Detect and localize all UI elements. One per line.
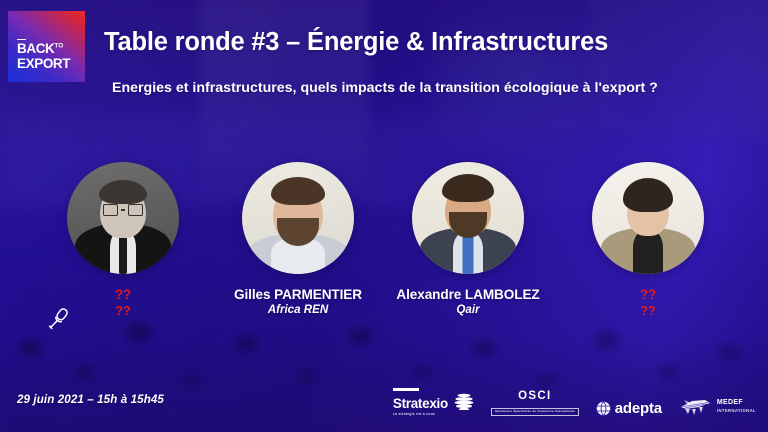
speaker-avatar-3 — [412, 162, 524, 274]
background-bottom-shade — [0, 337, 768, 432]
globe-icon — [596, 401, 611, 416]
back-to-export-logo: BACKTO EXPORT — [8, 11, 85, 82]
medef-tagline: INTERNATIONAL — [717, 408, 756, 413]
speaker-avatar-1 — [67, 162, 179, 274]
logo-line-2: EXPORT — [17, 57, 70, 71]
background-top-shade — [0, 0, 768, 143]
stratexio-name: Stratexio — [393, 397, 448, 411]
speaker-organization-4: ?? — [563, 304, 733, 318]
logo-text-block: BACKTO EXPORT — [17, 39, 70, 71]
speaker-name-1: ?? — [38, 287, 208, 302]
stratexio-tagline: La stratégie est à vous — [393, 412, 448, 416]
speaker-organization-1: ?? — [38, 304, 208, 318]
medef-emblem-icon — [679, 396, 713, 416]
speaker-name-2: Gilles PARMENTIER — [213, 287, 383, 302]
page-title: Table ronde #3 – Énergie & Infrastructur… — [104, 28, 754, 57]
speaker-card-3: Alexandre LAMBOLEZ Qair — [383, 162, 553, 316]
logo-back-word: BACK — [17, 41, 54, 56]
speaker-organization-3: Qair — [383, 303, 553, 316]
speaker-name-3: Alexandre LAMBOLEZ — [383, 287, 553, 302]
speaker-organization-2: Africa REN — [213, 303, 383, 316]
stratexio-mark-icon — [454, 393, 474, 410]
speakers-row: ?? ?? Gilles PARMENTIER Africa REN — [0, 162, 768, 342]
speaker-card-4: ?? ?? — [563, 162, 733, 318]
page-subtitle: Energies et infrastructures, quels impac… — [112, 78, 672, 98]
speaker-avatar-4 — [592, 162, 704, 274]
speaker-name-4: ?? — [563, 287, 733, 302]
speaker-card-1: ?? ?? — [38, 162, 208, 318]
sponsor-stratexio: Stratexio La stratégie est à vous — [393, 388, 474, 416]
stratexio-bar — [393, 388, 419, 391]
logo-dash — [17, 39, 26, 41]
logo-to-word: TO — [54, 43, 63, 50]
osci-tagline: Opérateurs Spécialisés du Commerce Inter… — [491, 408, 579, 416]
event-date: 29 juin 2021 – 15h à 15h45 — [17, 393, 164, 406]
sponsor-logos: Stratexio La stratégie est à vous OSCI O… — [393, 388, 756, 416]
logo-line-1: BACKTO — [17, 42, 70, 56]
sponsor-medef: MEDEF INTERNATIONAL — [679, 396, 756, 416]
speaker-card-2: Gilles PARMENTIER Africa REN — [213, 162, 383, 316]
presentation-slide: BACKTO EXPORT Table ronde #3 – Énergie &… — [0, 0, 768, 432]
osci-name: OSCI — [518, 391, 551, 403]
sponsor-osci: OSCI Opérateurs Spécialisés du Commerce … — [491, 391, 579, 416]
adepta-name: adepta — [615, 401, 662, 416]
sponsor-adepta: adepta — [596, 401, 662, 416]
medef-name: MEDEF — [717, 399, 756, 406]
speaker-avatar-2 — [242, 162, 354, 274]
